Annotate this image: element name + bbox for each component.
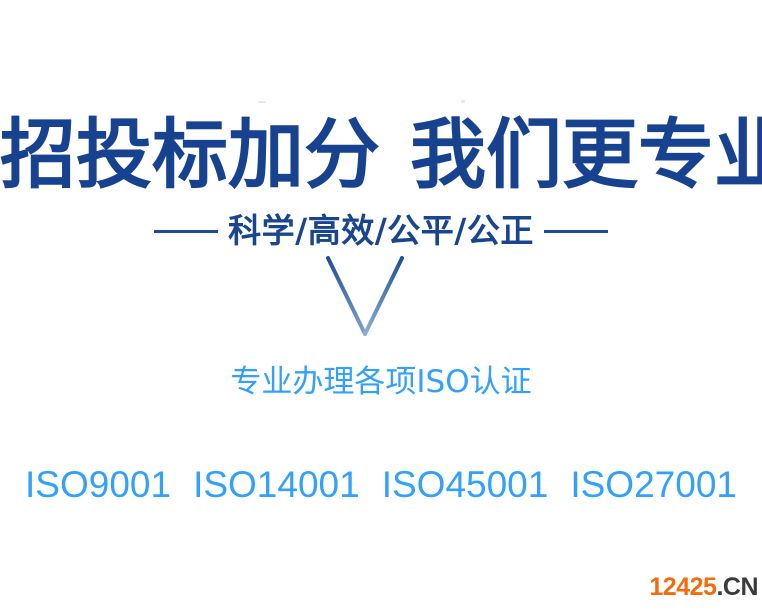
tagline-text: 科学/高效/公平/公正: [228, 211, 534, 251]
v-chevron-icon: [310, 250, 420, 345]
watermark-number: 12425: [649, 573, 716, 601]
tagline-row: 科学/高效/公平/公正: [0, 209, 762, 253]
iso-promo-banner: 招投标加分我们更专业 科学/高效/公平/公正 专业办理各项ISO认证 ISO90…: [0, 0, 762, 613]
scan-artifact-right: [461, 100, 465, 103]
tagline-rule-right: [544, 230, 608, 233]
standard-item: ISO9001: [25, 462, 171, 508]
standard-item: ISO45001: [382, 462, 549, 508]
caption-text: 专业办理各项ISO认证: [0, 362, 762, 402]
headline-part-1: 招投标加分: [0, 110, 380, 199]
watermark-tld: .CN: [716, 573, 758, 601]
standard-item: ISO14001: [193, 462, 360, 508]
scan-artifact-left: [258, 101, 266, 103]
standards-list: ISO9001 ISO14001 ISO45001 ISO27001: [0, 462, 762, 508]
tagline-rule-left: [154, 230, 218, 233]
headline: 招投标加分我们更专业: [0, 112, 762, 198]
headline-part-2: 我们更专业: [410, 110, 762, 199]
watermark: 12425.CN: [649, 573, 758, 601]
standard-item: ISO27001: [570, 462, 737, 508]
